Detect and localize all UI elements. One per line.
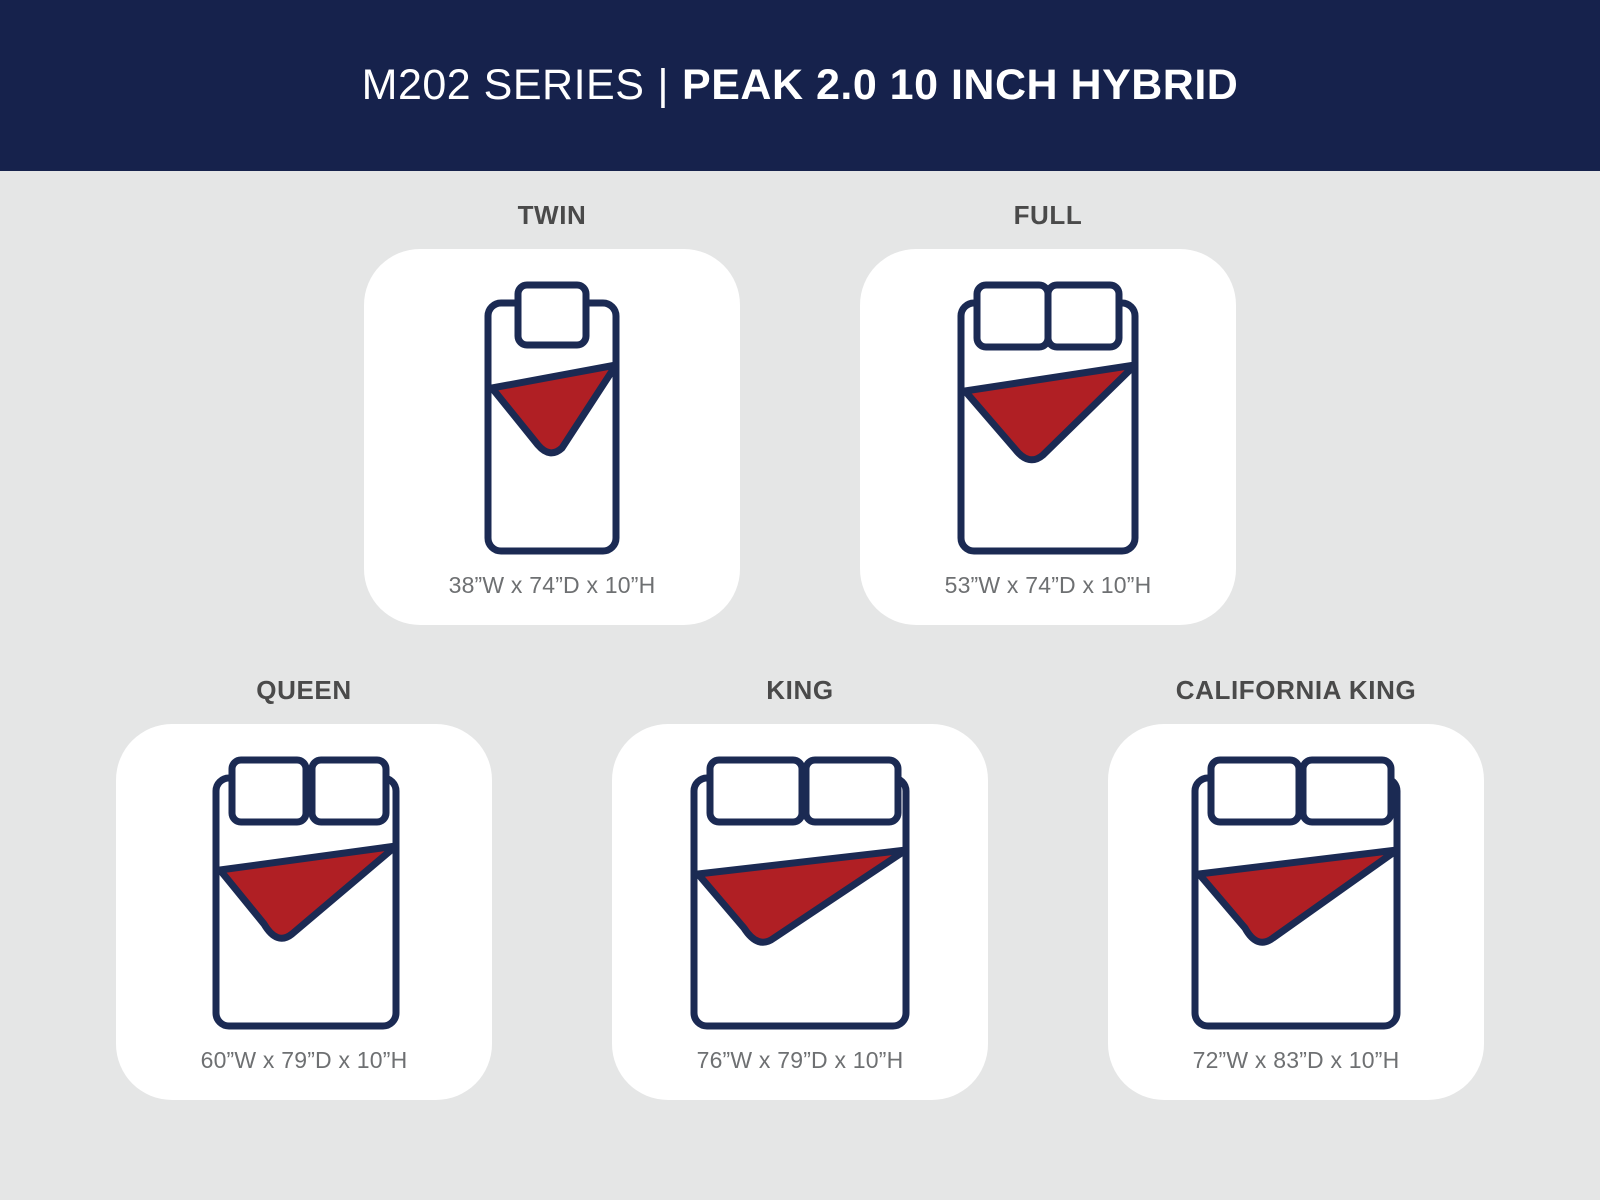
size-row-bottom: QUEEN 60”W x 79”D x 10”H KING bbox=[0, 675, 1600, 1100]
title-divider: | bbox=[657, 61, 669, 110]
product-label: PEAK 2.0 10 INCH HYBRID bbox=[682, 61, 1238, 110]
size-card-twin[interactable]: 38”W x 74”D x 10”H bbox=[364, 249, 740, 625]
bed-icon-twin bbox=[452, 273, 652, 563]
size-card-full[interactable]: 53”W x 74”D x 10”H bbox=[860, 249, 1236, 625]
bed-icon-full bbox=[933, 273, 1163, 563]
size-cell-full[interactable]: FULL 53”W x 74”D x 10”H bbox=[860, 200, 1236, 625]
bed-icon-queen bbox=[184, 748, 424, 1038]
dimensions-california-king: 72”W x 83”D x 10”H bbox=[1108, 1047, 1484, 1074]
size-row-top: TWIN 38”W x 74”D x 10”H FULL bbox=[0, 200, 1600, 625]
size-card-california-king[interactable]: 72”W x 83”D x 10”H bbox=[1108, 724, 1484, 1100]
size-card-queen[interactable]: 60”W x 79”D x 10”H bbox=[116, 724, 492, 1100]
size-cell-california-king[interactable]: CALIFORNIA KING 72”W x 83”D x 10”H bbox=[1108, 675, 1484, 1100]
bed-icon-california-king bbox=[1167, 748, 1425, 1038]
size-label-twin: TWIN bbox=[518, 200, 587, 231]
page-title: M202 SERIES | PEAK 2.0 10 INCH HYBRID bbox=[362, 61, 1239, 110]
size-cell-queen[interactable]: QUEEN 60”W x 79”D x 10”H bbox=[116, 675, 492, 1100]
size-label-california-king: CALIFORNIA KING bbox=[1176, 675, 1417, 706]
size-label-full: FULL bbox=[1014, 200, 1083, 231]
size-cell-king[interactable]: KING 76”W x 79”D x 10”H bbox=[612, 675, 988, 1100]
dimensions-king: 76”W x 79”D x 10”H bbox=[612, 1047, 988, 1074]
size-label-queen: QUEEN bbox=[256, 675, 351, 706]
dimensions-twin: 38”W x 74”D x 10”H bbox=[364, 572, 740, 599]
header-bar: M202 SERIES | PEAK 2.0 10 INCH HYBRID bbox=[0, 0, 1600, 171]
dimensions-queen: 60”W x 79”D x 10”H bbox=[116, 1047, 492, 1074]
bed-icon-king bbox=[666, 748, 934, 1038]
size-cell-twin[interactable]: TWIN 38”W x 74”D x 10”H bbox=[364, 200, 740, 625]
size-card-king[interactable]: 76”W x 79”D x 10”H bbox=[612, 724, 988, 1100]
series-label: M202 SERIES bbox=[362, 61, 645, 110]
size-label-king: KING bbox=[766, 675, 833, 706]
dimensions-full: 53”W x 74”D x 10”H bbox=[860, 572, 1236, 599]
